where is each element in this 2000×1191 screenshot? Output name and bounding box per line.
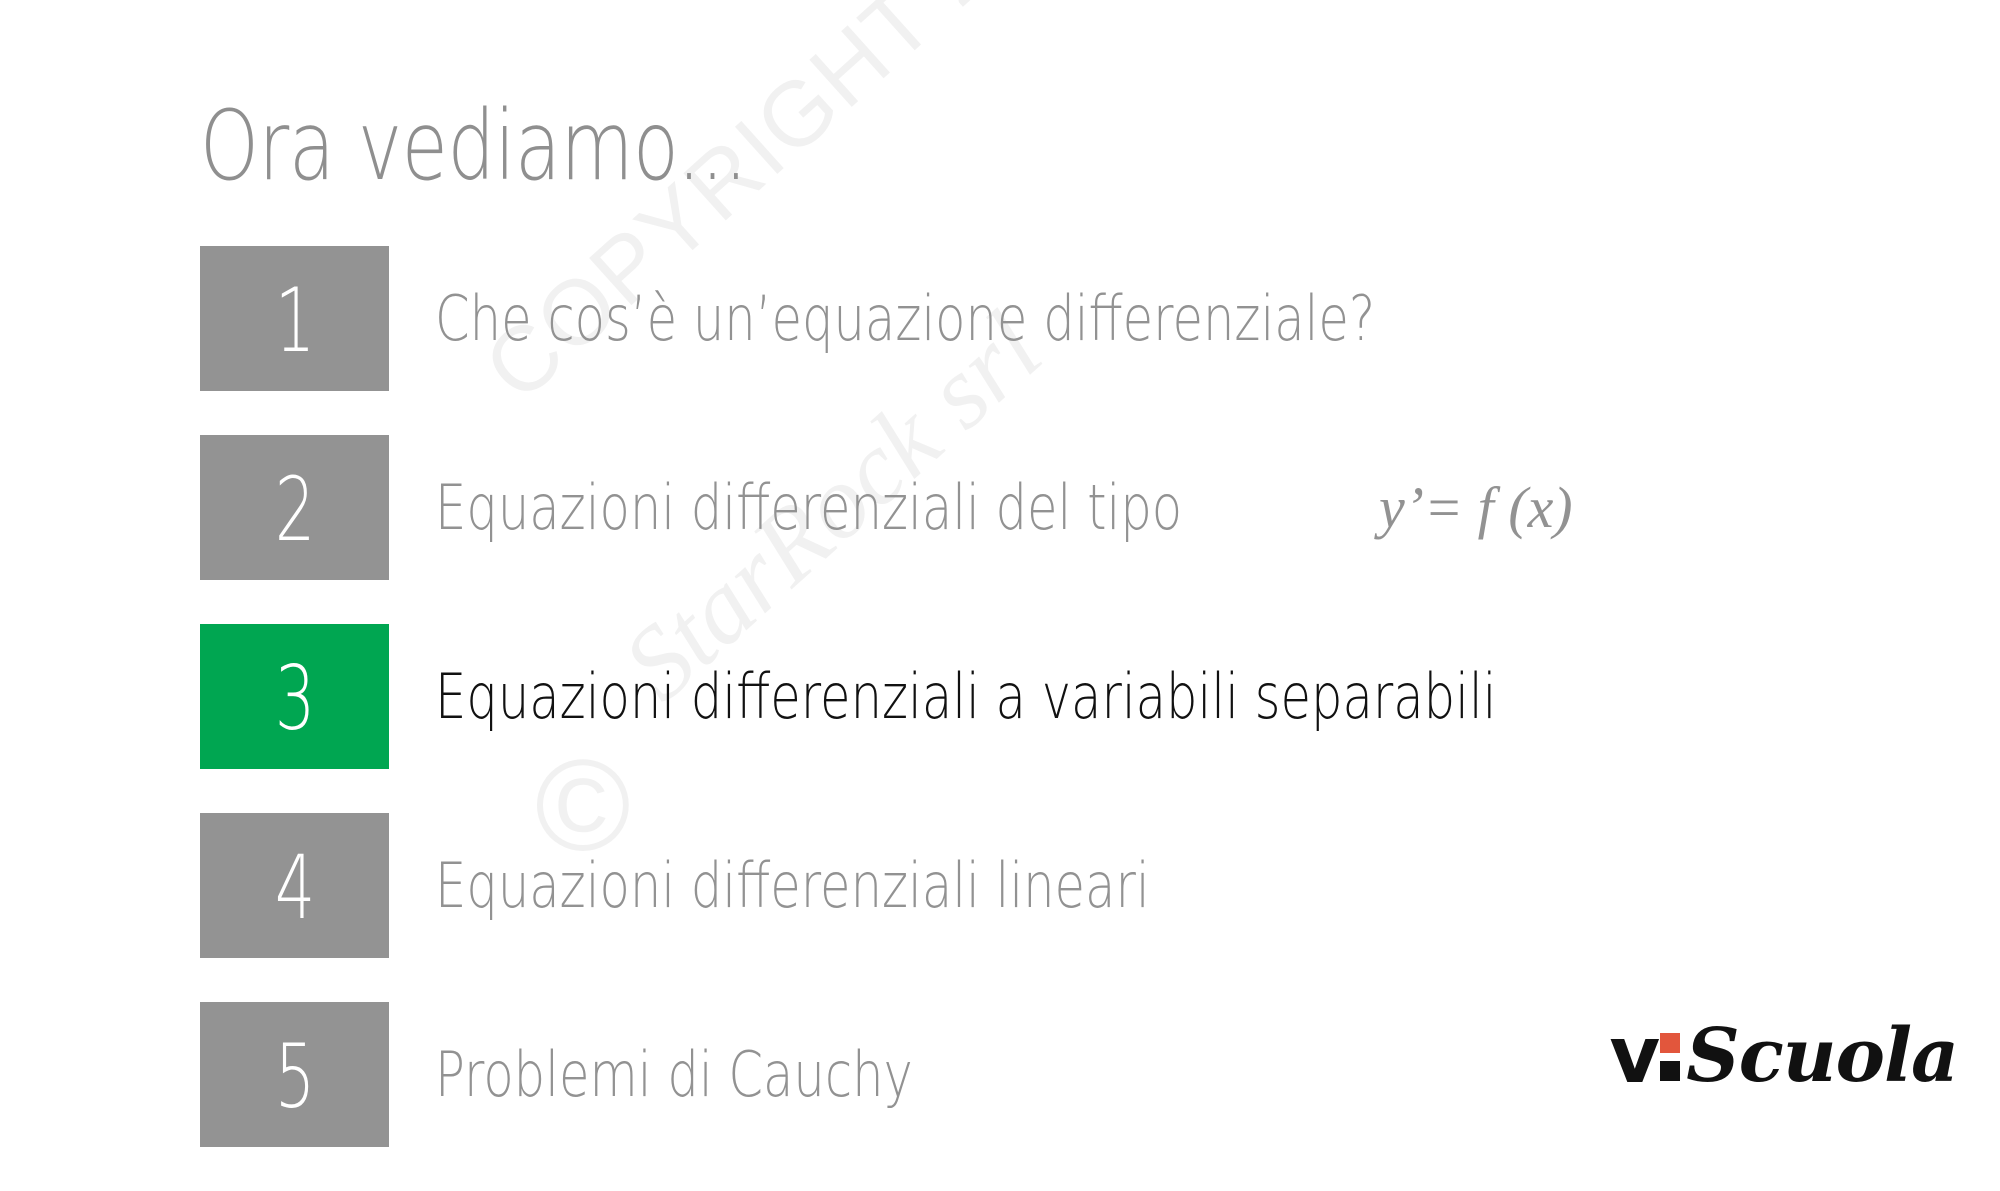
brand-logo[interactable]: v Scuola xyxy=(1609,1025,1958,1089)
logo-colon-dot-bottom xyxy=(1660,1061,1680,1081)
agenda-row-label: Che cos’è un’equazione differenziale? xyxy=(435,282,1375,355)
agenda-number-box[interactable]: 4 xyxy=(200,813,389,958)
agenda-number-box[interactable]: 1 xyxy=(200,246,389,391)
agenda-number-label: 1 xyxy=(274,277,314,365)
agenda-number-label: 2 xyxy=(274,466,314,554)
agenda-row-text: Equazioni differenziali del tipo y’= f (… xyxy=(435,435,1573,580)
agenda-row-text: Che cos’è un’equazione differenziale? xyxy=(435,246,1610,391)
agenda-row-text: Equazioni differenziali a variabili sepa… xyxy=(435,624,1762,769)
agenda-row[interactable]: 2 Equazioni differenziali del tipo y’= f… xyxy=(200,435,1900,624)
agenda-row[interactable]: 4 Equazioni differenziali lineari xyxy=(200,813,1900,1002)
agenda-row-label: Equazioni differenziali lineari xyxy=(435,849,1150,922)
agenda-row-formula: y’= f (x) xyxy=(1369,474,1573,541)
agenda-number-box-active[interactable]: 3 xyxy=(200,624,389,769)
agenda-row-text: Equazioni differenziali lineari xyxy=(435,813,1328,958)
logo-wordmark: Scuola xyxy=(1686,1025,1958,1089)
logo-colon-icon xyxy=(1660,1027,1680,1085)
agenda-row-label: Problemi di Cauchy xyxy=(435,1038,913,1111)
agenda-number-box[interactable]: 5 xyxy=(200,1002,389,1147)
agenda-row[interactable]: 1 Che cos’è un’equazione differenziale? xyxy=(200,246,1900,435)
page-title: Ora vediamo... xyxy=(200,96,747,197)
logo-letter-v: v xyxy=(1609,1025,1658,1089)
logo-colon-dot-top xyxy=(1660,1033,1680,1053)
slide-canvas: Ora vediamo... 1 Che cos’è un’equazione … xyxy=(0,0,2000,1125)
agenda-number-label: 5 xyxy=(274,1033,314,1121)
agenda-number-label: 3 xyxy=(274,655,314,743)
agenda-number-label: 4 xyxy=(274,844,314,932)
agenda-row-text: Problemi di Cauchy xyxy=(435,1002,1032,1147)
agenda-row-label: Equazioni differenziali a variabili sepa… xyxy=(435,660,1496,733)
agenda-number-box[interactable]: 2 xyxy=(200,435,389,580)
agenda-row-label: Equazioni differenziali del tipo xyxy=(435,471,1182,544)
agenda-row-active[interactable]: 3 Equazioni differenziali a variabili se… xyxy=(200,624,1900,813)
